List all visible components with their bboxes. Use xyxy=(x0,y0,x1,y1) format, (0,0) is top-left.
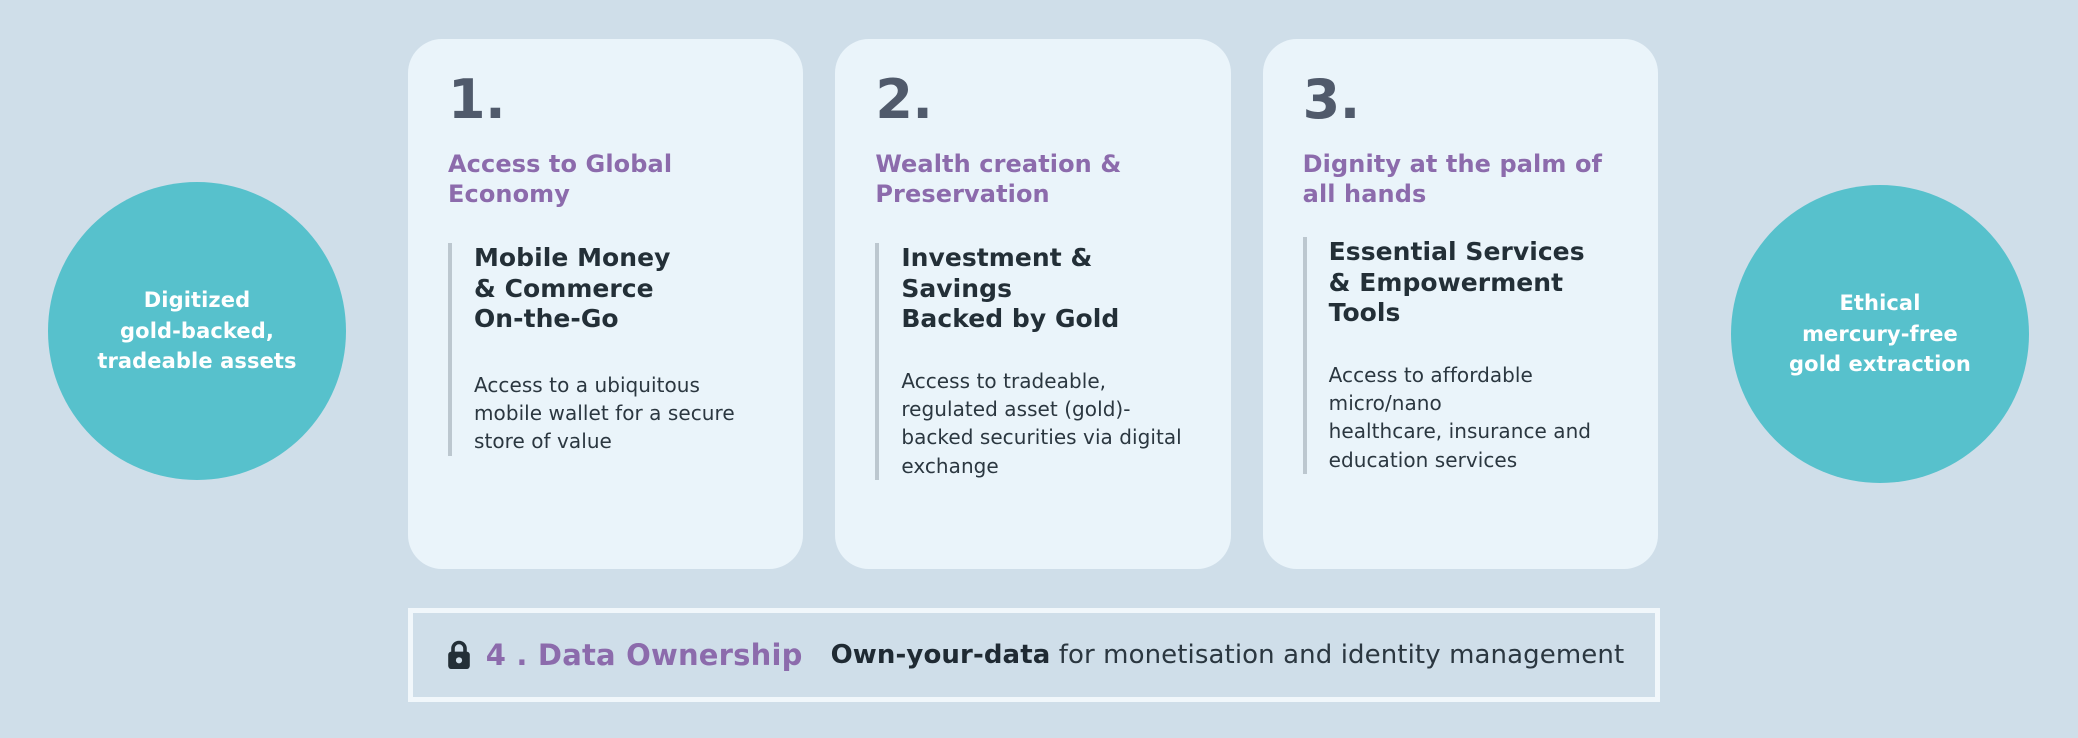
card-detail-title: Investment & Savings Backed by Gold xyxy=(901,243,1190,335)
card-detail-block: Essential Services & Empowerment Tools A… xyxy=(1303,237,1618,474)
card-detail-block: Mobile Money & Commerce On-the-Go Access… xyxy=(448,243,763,456)
card-subtitle: Wealth creation & Preservation xyxy=(875,149,1190,209)
circle-digitized-assets: Digitized gold-backed, tradeable assets xyxy=(48,182,346,480)
card-detail-body: Access to tradeable, regulated asset (go… xyxy=(901,367,1190,481)
banner-description: Own-your-data for monetisation and ident… xyxy=(831,640,1625,670)
card-detail-body: Access to a ubiquitous mobile wallet for… xyxy=(474,371,763,456)
card-detail-title: Mobile Money & Commerce On-the-Go xyxy=(474,243,763,335)
pillar-card-3[interactable]: 3. Dignity at the palm of all hands Esse… xyxy=(1263,39,1658,569)
circle-ethical-extraction: Ethical mercury-free gold extraction xyxy=(1731,185,2029,483)
card-number: 1. xyxy=(448,73,763,127)
card-detail-body: Access to affordable micro/nano healthca… xyxy=(1329,361,1630,475)
data-ownership-banner[interactable]: 4 . Data Ownership Own-your-data for mon… xyxy=(408,608,1660,702)
card-subtitle: Dignity at the palm of all hands xyxy=(1303,149,1618,209)
card-detail-title: Essential Services & Empowerment Tools xyxy=(1329,237,1618,329)
pillar-cards-row: 1. Access to Global Economy Mobile Money… xyxy=(408,39,1658,569)
banner-label: 4 . Data Ownership xyxy=(486,638,803,672)
banner-content: 4 . Data Ownership Own-your-data for mon… xyxy=(444,638,1625,672)
pillar-card-2[interactable]: 2. Wealth creation & Preservation Invest… xyxy=(835,39,1230,569)
card-number: 3. xyxy=(1303,73,1618,127)
lock-icon xyxy=(444,638,474,672)
card-subtitle: Access to Global Economy xyxy=(448,149,763,209)
circle-right-label: Ethical mercury-free gold extraction xyxy=(1789,288,1971,379)
circle-left-label: Digitized gold-backed, tradeable assets xyxy=(97,285,296,376)
banner-description-rest: for monetisation and identity management xyxy=(1050,640,1624,670)
banner-description-bold: Own-your-data xyxy=(831,640,1051,670)
card-number: 2. xyxy=(875,73,1190,127)
card-detail-block: Investment & Savings Backed by Gold Acce… xyxy=(875,243,1190,480)
pillar-card-1[interactable]: 1. Access to Global Economy Mobile Money… xyxy=(408,39,803,569)
